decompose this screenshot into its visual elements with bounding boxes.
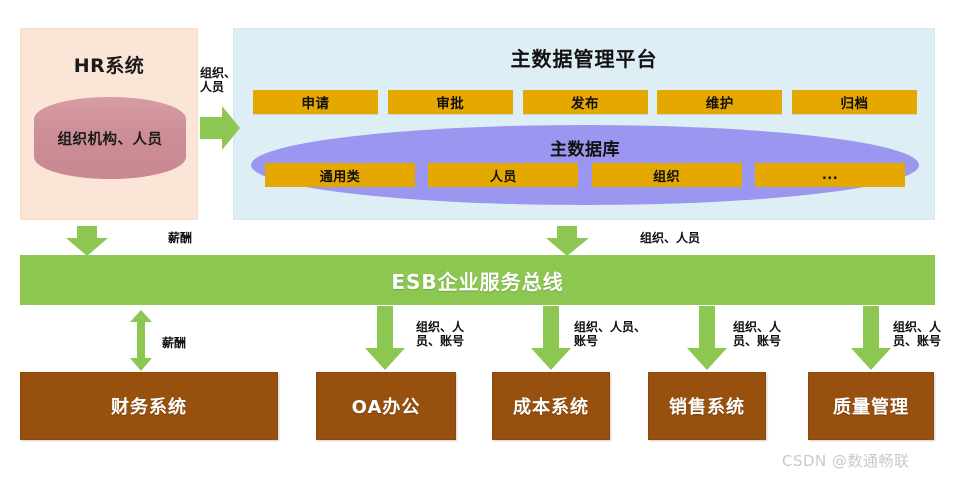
process-step-label: 申请 [302,92,330,112]
arrow-esb-finance-bidirectional-icon [130,310,152,371]
system-box-sales[interactable]: 销售系统 [648,372,766,440]
flow-label-esb-to-sales: 组织、人 员、账号 [733,320,795,348]
process-step-label: 维护 [706,92,734,112]
esb-bus-title: ESB企业服务总线 [20,255,935,305]
arrow-mdm-to-esb-icon [546,226,589,256]
arrow-hr-to-esb-icon [66,226,108,256]
db-category-more[interactable]: ... [755,163,905,187]
master-database-categories-row: 通用类 人员 组织 ... [265,163,905,187]
db-category-personnel[interactable]: 人员 [428,163,578,187]
system-box-label: 销售系统 [669,393,745,419]
process-step-label: 审批 [436,92,464,112]
hr-datastore-cylinder-icon: 组织机构、人员 [34,97,186,179]
system-box-label: 成本系统 [513,393,589,419]
arrow-esb-to-quality-icon [851,306,891,370]
system-box-oa[interactable]: OA办公 [316,372,456,440]
system-box-finance[interactable]: 财务系统 [20,372,278,440]
flow-label-hr-to-esb: 薪酬 [168,231,216,245]
db-category-general[interactable]: 通用类 [265,163,415,187]
system-box-cost[interactable]: 成本系统 [492,372,610,440]
flow-label-esb-to-finance: 薪酬 [162,336,210,350]
db-category-label: 人员 [490,166,517,185]
system-box-label: 质量管理 [833,393,909,419]
hr-system-title: HR系统 [21,51,197,78]
arrow-esb-to-cost-icon [531,306,571,370]
flow-label-mdm-to-esb: 组织、人员 [640,231,740,245]
process-step-apply[interactable]: 申请 [253,90,378,114]
flow-label-esb-to-oa: 组织、人 员、账号 [416,320,478,348]
flow-label-hr-to-mdm: 组织、 人员 [200,66,244,94]
mdm-platform-panel: 主数据管理平台 申请 审批 发布 维护 归档 主数据库 通用类 [233,28,935,220]
system-box-quality[interactable]: 质量管理 [808,372,934,440]
process-step-label: 发布 [571,92,599,112]
master-database-title: 主数据库 [251,135,919,160]
mdm-platform-title: 主数据管理平台 [234,43,934,72]
arrow-esb-to-sales-icon [687,306,727,370]
master-database-ellipse: 主数据库 通用类 人员 组织 ... [251,125,919,205]
csdn-watermark: CSDN @数通畅联 [782,450,910,471]
flow-label-esb-to-cost: 组织、人员、 账号 [574,320,654,348]
process-step-label: 归档 [841,92,869,112]
system-box-label: OA办公 [352,393,421,419]
db-category-label: 组织 [653,166,680,185]
hr-system-panel: HR系统 组织机构、人员 [20,28,198,220]
flow-label-esb-to-quality: 组织、人 员、账号 [893,320,955,348]
esb-bus-bar: ESB企业服务总线 [20,255,935,305]
diagram-canvas: HR系统 组织机构、人员 主数据管理平台 申请 审批 发布 维护 归档 主 [0,0,955,477]
process-step-archive[interactable]: 归档 [792,90,917,114]
db-category-label: ... [822,168,838,183]
arrow-esb-to-oa-icon [365,306,405,370]
db-category-label: 通用类 [320,166,361,185]
process-step-publish[interactable]: 发布 [523,90,648,114]
system-box-label: 财务系统 [111,393,187,419]
process-step-approve[interactable]: 审批 [388,90,513,114]
process-step-maintain[interactable]: 维护 [657,90,782,114]
db-category-organization[interactable]: 组织 [592,163,742,187]
process-steps-row: 申请 审批 发布 维护 归档 [253,90,917,114]
hr-datastore-label: 组织机构、人员 [34,97,186,179]
